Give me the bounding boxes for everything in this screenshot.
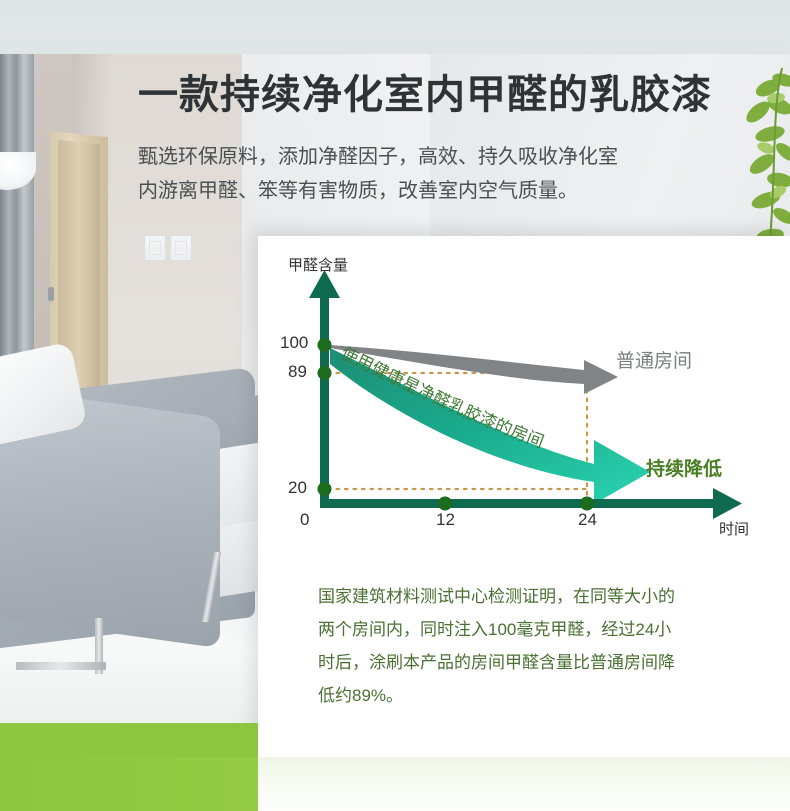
sofa-foot-rail (16, 662, 106, 670)
door-handle (48, 287, 54, 301)
caption-line-2: 两个房间内，同时注入100毫克甲醛，经过24小 (318, 613, 770, 646)
caption-line-4: 低约89%。 (318, 679, 770, 712)
y-axis (309, 270, 340, 504)
page-subtitle: 甄选环保原料，添加净醛因子，高效、持久吸收净化室 内游离甲醛、笨等有害物质，改善… (138, 140, 698, 208)
legend-continuous-reduction: 持续降低 (646, 454, 722, 481)
subtitle-line-2: 内游离甲醛、笨等有害物质，改善室内空气质量。 (138, 174, 698, 208)
x-tick-24: 24 (578, 510, 597, 530)
subtitle-line-1: 甄选环保原料，添加净醛因子，高效、持久吸收净化室 (138, 140, 698, 174)
formaldehyde-decay-chart: 使用健康星净醛乳胶漆的房间 (258, 236, 790, 556)
wall-switch-left (144, 235, 166, 261)
y-tick-100: 100 (280, 333, 308, 353)
caption-line-1: 国家建筑材料测试中心检测证明，在同等大小的 (318, 580, 770, 613)
y-tick-20: 20 (288, 478, 307, 498)
page-root: 一款持续净化室内甲醛的乳胶漆 甄选环保原料，添加净醛因子，高效、持久吸收净化室 … (0, 0, 790, 811)
info-card: 使用健康星净醛乳胶漆的房间 (258, 236, 790, 757)
wall-switch-right (170, 235, 192, 261)
x-axis-label: 时间 (719, 518, 749, 539)
ceiling (0, 0, 790, 54)
y-axis-label: 甲醛含量 (288, 254, 348, 275)
bottom-fade (258, 757, 790, 811)
caption-line-3: 时后，涂刷本产品的房间甲醛含量比普通房间降 (318, 646, 770, 679)
y-tick-89: 89 (288, 362, 307, 382)
legend-normal-room: 普通房间 (616, 346, 692, 373)
page-title: 一款持续净化室内甲醛的乳胶漆 (138, 72, 738, 118)
chart-svg: 使用健康星净醛乳胶漆的房间 (258, 236, 790, 556)
card-bottom-extension (258, 723, 790, 757)
x-tick-12: 12 (436, 510, 455, 530)
x-tick-0: 0 (300, 510, 309, 530)
x-axis (320, 488, 742, 519)
test-certification-caption: 国家建筑材料测试中心检测证明，在同等大小的 两个房间内，同时注入100毫克甲醛，… (318, 580, 770, 713)
